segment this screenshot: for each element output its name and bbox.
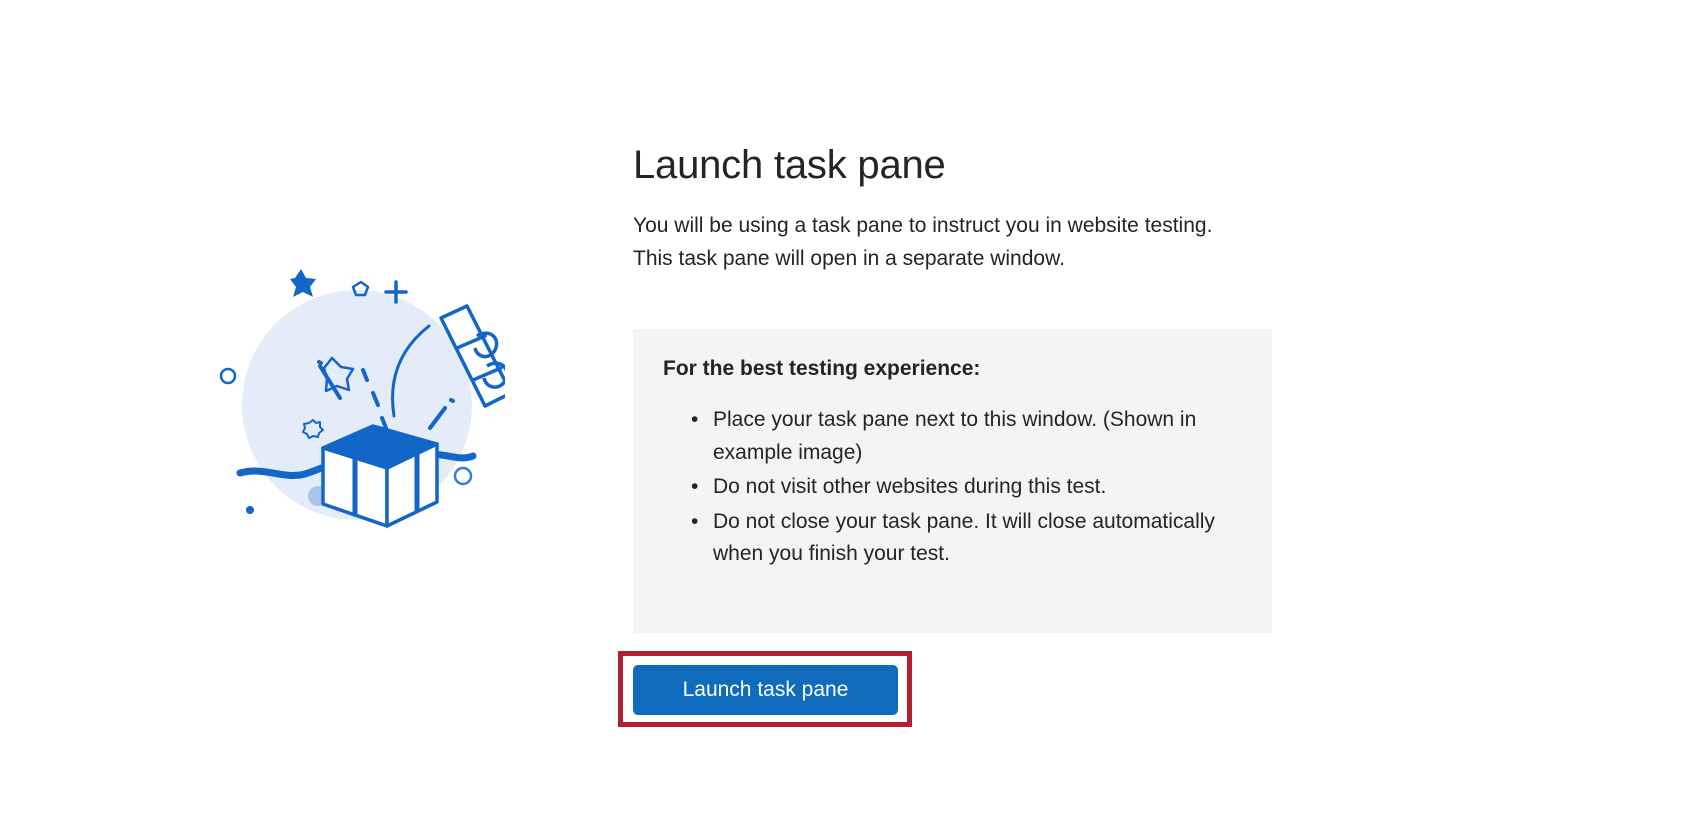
outline-circle-left <box>221 369 235 383</box>
best-experience-info-box: For the best testing experience: Place y… <box>633 329 1272 633</box>
page-title: Launch task pane <box>633 140 1293 190</box>
info-box-title: For the best testing experience: <box>663 355 1242 382</box>
page-root: Launch task pane You will be using a tas… <box>0 0 1700 818</box>
intro-paragraph: You will be using a task pane to instruc… <box>633 210 1213 275</box>
filled-star-icon <box>290 269 316 297</box>
gift-box-body <box>323 426 437 526</box>
open-gift-box-illustration <box>205 258 505 538</box>
filled-dot-small <box>246 506 254 514</box>
info-box-list: Place your task pane next to this window… <box>663 404 1242 571</box>
list-item: Do not visit other websites during this … <box>691 471 1242 504</box>
list-item: Place your task pane next to this window… <box>691 404 1242 469</box>
launch-task-pane-button[interactable]: Launch task pane <box>633 665 898 715</box>
outline-circle-right <box>455 468 471 484</box>
list-item: Do not close your task pane. It will clo… <box>691 506 1242 571</box>
content-column: Launch task pane You will be using a tas… <box>633 140 1293 275</box>
